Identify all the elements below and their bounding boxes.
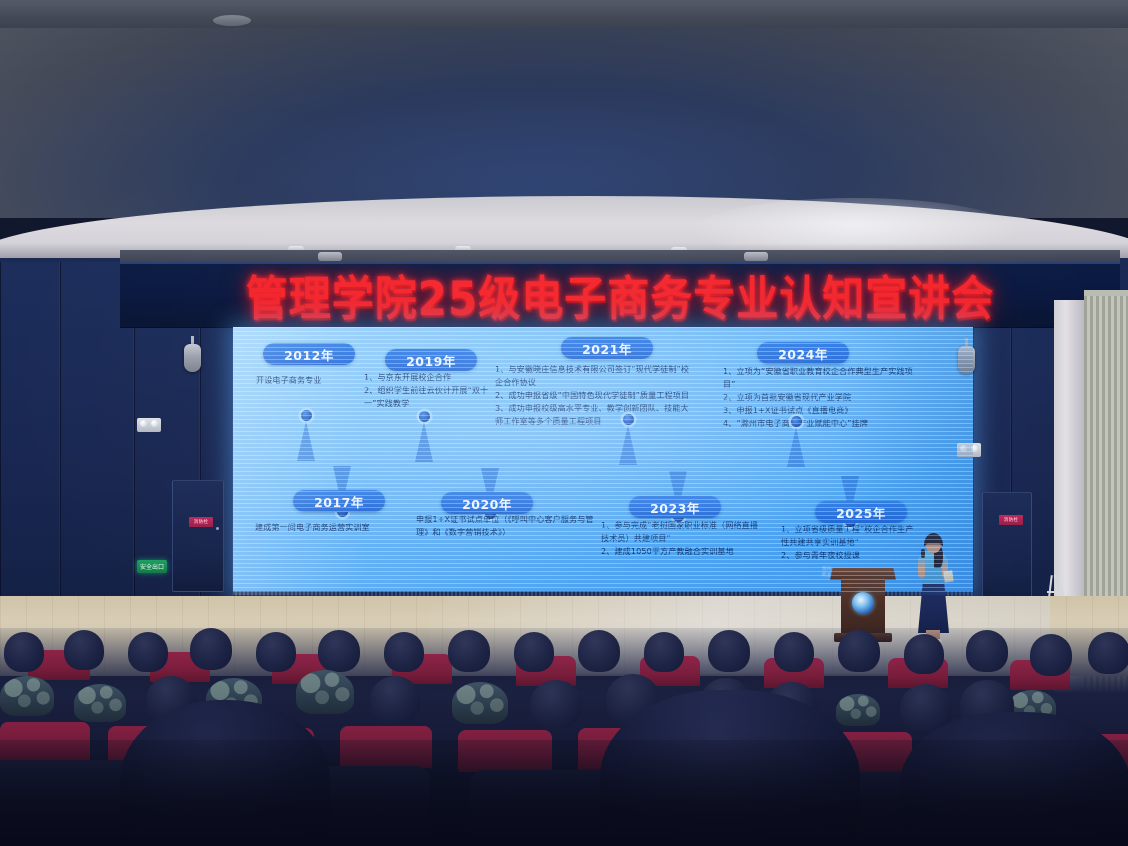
audience-head <box>1030 634 1072 676</box>
milestone-pill-2019: 2019年 <box>385 349 477 371</box>
timeline-spike-2019 <box>415 422 433 462</box>
camouflage-cap <box>74 684 126 722</box>
milestone-pill-2020: 2020年 <box>441 492 533 514</box>
audience-head <box>578 630 620 672</box>
ceiling-vent-icon <box>213 15 251 26</box>
audience-head <box>514 632 554 672</box>
milestone-body-2021: 1、与安徽晓庄信息技术有限公司签订“现代学徒制”校企合作协议 2、成功申报省级“… <box>495 363 695 429</box>
exit-sign-left: 安全出口 <box>137 560 167 573</box>
banner-mount-icon <box>744 252 768 261</box>
audience-head <box>530 680 582 728</box>
milestone-body-2017: 建成第一间电子商务运营实训室 <box>255 521 421 534</box>
fire-hydrant-sign-left: 消防栓 <box>189 517 213 527</box>
ceiling-surface <box>0 28 1128 218</box>
timeline-spike-2021 <box>619 425 637 465</box>
milestone-pill-2012: 2012年 <box>263 343 355 365</box>
side-door-left[interactable] <box>172 480 224 592</box>
timeline-spike-2012 <box>297 421 315 461</box>
camouflage-cap <box>296 670 354 714</box>
event-banner: 管理学院25级电子商务专业认知宣讲会 <box>120 262 1120 328</box>
wall-panel-left-outer <box>0 262 60 640</box>
camouflage-cap <box>452 682 508 724</box>
side-door-right[interactable] <box>982 492 1032 610</box>
camouflage-cap <box>0 676 54 716</box>
audience-head <box>384 632 424 672</box>
timeline-node-2019 <box>419 411 430 422</box>
audience-head <box>448 630 490 672</box>
banner-mount-icon <box>318 252 342 261</box>
milestone-body-2024: 1、立项为“安徽省职业教育校企合作典型生产实践项目” 2、立项为首批安徽省现代产… <box>723 365 923 431</box>
timeline-spike-2024 <box>787 427 805 467</box>
milestone-pill-2017: 2017年 <box>293 490 385 512</box>
audience-head <box>644 632 684 672</box>
milestone-pill-2021: 2021年 <box>561 337 653 359</box>
audience-head <box>256 632 296 672</box>
audience-head <box>64 630 104 670</box>
ceiling-speaker-icon <box>184 344 201 372</box>
audience-head <box>774 632 814 672</box>
timeline-node-2024 <box>791 416 802 427</box>
audience-head <box>708 630 750 672</box>
milestone-body-2012: 开设电子商务专业 <box>256 374 364 387</box>
milestone-body-2023: 1、参与完成“老挝国家职业标准（网络直播技术员）共建项目” 2、建成1050平方… <box>601 519 761 558</box>
audience-head <box>318 630 360 672</box>
audience-head <box>370 676 420 724</box>
fire-hydrant-sign-right: 消防栓 <box>999 515 1023 525</box>
audience-head <box>190 628 232 670</box>
timeline-slide: 2012年 2019年 2021年 2024年 开设电子商务专业 1、与京东开展… <box>233 327 973 595</box>
banner-title-text: 管理学院25级电子商务专业认知宣讲会 <box>246 262 994 328</box>
led-presentation-screen: 2012年 2019年 2021年 2024年 开设电子商务专业 1、与京东开展… <box>233 327 973 595</box>
audience-head <box>966 630 1008 672</box>
milestone-pill-2023: 2023年 <box>629 496 721 518</box>
door-knob-icon <box>216 527 219 530</box>
audience-head <box>4 632 44 672</box>
milestone-body-2020: 申报1+X证书试点单位（《呼叫中心客户服务与管理》和《数字营销技术》） <box>416 513 594 539</box>
milestone-pill-2024: 2024年 <box>757 342 849 364</box>
school-emblem-icon <box>852 592 874 614</box>
auditorium-photo: 管理学院25级电子商务专业认知宣讲会 2012年 2019年 2021年 202… <box>0 0 1128 846</box>
audience-head <box>128 632 168 672</box>
audience-head <box>838 630 880 672</box>
audience-head <box>1088 632 1128 674</box>
milestone-pill-2025: 2025年 <box>815 501 907 523</box>
timeline-node-2021 <box>623 414 634 425</box>
camouflage-cap <box>836 694 880 726</box>
emergency-light-icon <box>137 418 161 432</box>
audience-head <box>904 634 944 674</box>
milestone-body-2019: 1、与京东开展校企合作 2、组织学生前往云伙计开展“双十一”实践教学 <box>364 371 504 410</box>
milestone-body-2025: 1、立项省级质量工程“校企合作生产性共建共享实训基地” 2、参与青年夜校授课 <box>781 523 921 562</box>
foreground-shadow <box>0 740 1128 846</box>
timeline-node-2012 <box>301 410 312 421</box>
